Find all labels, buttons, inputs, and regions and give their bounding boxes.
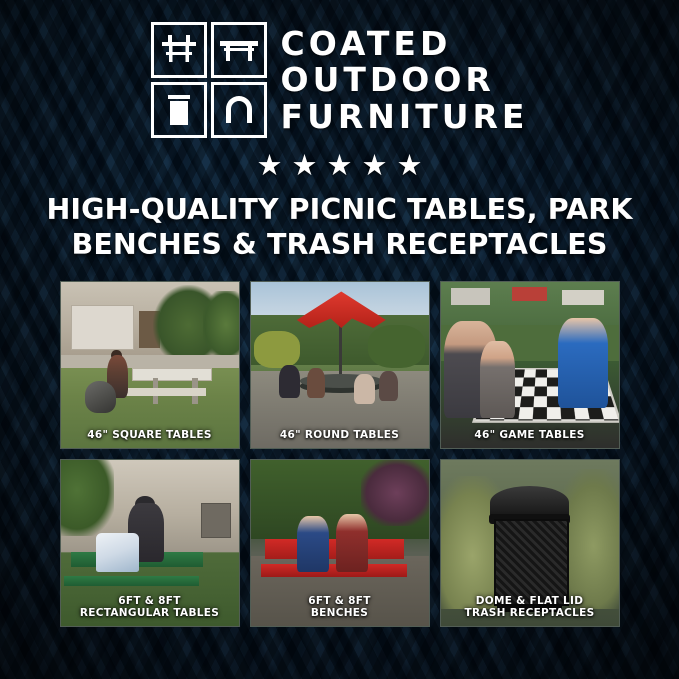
star-icon-5: ★ (397, 152, 423, 181)
tile-caption: 6FT & 8FT RECTANGULAR TABLES (61, 596, 239, 620)
tile-caption: 46" SQUARE TABLES (61, 430, 239, 442)
product-tile-benches[interactable]: 6FT & 8FT BENCHES (250, 459, 430, 627)
tile-caption: 6FT & 8FT BENCHES (251, 596, 429, 620)
tile-caption-line-2: TRASH RECEPTACLES (445, 608, 615, 620)
product-photo-grid: 46" SQUARE TABLES (60, 281, 620, 627)
tile-caption-line-1: 46" ROUND TABLES (255, 430, 425, 442)
star-icon-1: ★ (257, 152, 283, 181)
tile-caption: 46" ROUND TABLES (251, 430, 429, 442)
logo-word-outdoor: OUTDOOR (281, 63, 529, 97)
logo-word-coated: COATED (281, 27, 529, 61)
product-tile-rectangular-tables[interactable]: 6FT & 8FT RECTANGULAR TABLES (60, 459, 240, 627)
photo-game-tables (441, 282, 619, 448)
headline: HIGH-QUALITY PICNIC TABLES, PARK BENCHES… (30, 193, 650, 263)
star-icon-3: ★ (327, 152, 353, 181)
logo-wordmark: COATED OUTDOOR FURNITURE (281, 27, 529, 134)
photo-square-tables (61, 282, 239, 448)
logo-word-furniture: FURNITURE (281, 100, 529, 134)
tile-caption: 46" GAME TABLES (441, 430, 619, 442)
arched-bench-icon (211, 82, 267, 138)
tile-caption: DOME & FLAT LID TRASH RECEPTACLES (441, 596, 619, 620)
brand-logo: COATED OUTDOOR FURNITURE (151, 22, 529, 138)
product-tile-round-tables[interactable]: 46" ROUND TABLES (250, 281, 430, 449)
headline-line-1: HIGH-QUALITY PICNIC TABLES, PARK (30, 193, 650, 228)
product-poster: COATED OUTDOOR FURNITURE ★ ★ ★ ★ ★ HIGH-… (0, 0, 679, 679)
star-icon-4: ★ (362, 152, 388, 181)
tile-caption-line-1: 46" GAME TABLES (445, 430, 615, 442)
product-tile-trash-receptacles[interactable]: DOME & FLAT LID TRASH RECEPTACLES (440, 459, 620, 627)
trash-receptacle-icon (151, 82, 207, 138)
poster-content: COATED OUTDOOR FURNITURE ★ ★ ★ ★ ★ HIGH-… (0, 0, 679, 679)
star-icon-2: ★ (292, 152, 318, 181)
product-tile-square-tables[interactable]: 46" SQUARE TABLES (60, 281, 240, 449)
headline-line-2: BENCHES & TRASH RECEPTACLES (30, 228, 650, 263)
product-tile-game-tables[interactable]: 46" GAME TABLES (440, 281, 620, 449)
photo-round-tables (251, 282, 429, 448)
tile-caption-line-2: RECTANGULAR TABLES (65, 608, 235, 620)
star-rating: ★ ★ ★ ★ ★ (257, 152, 423, 181)
picnic-table-icon (151, 22, 207, 78)
tile-caption-line-1: 46" SQUARE TABLES (65, 430, 235, 442)
park-bench-icon (211, 22, 267, 78)
tile-caption-line-2: BENCHES (255, 608, 425, 620)
logo-icon-grid (151, 22, 267, 138)
